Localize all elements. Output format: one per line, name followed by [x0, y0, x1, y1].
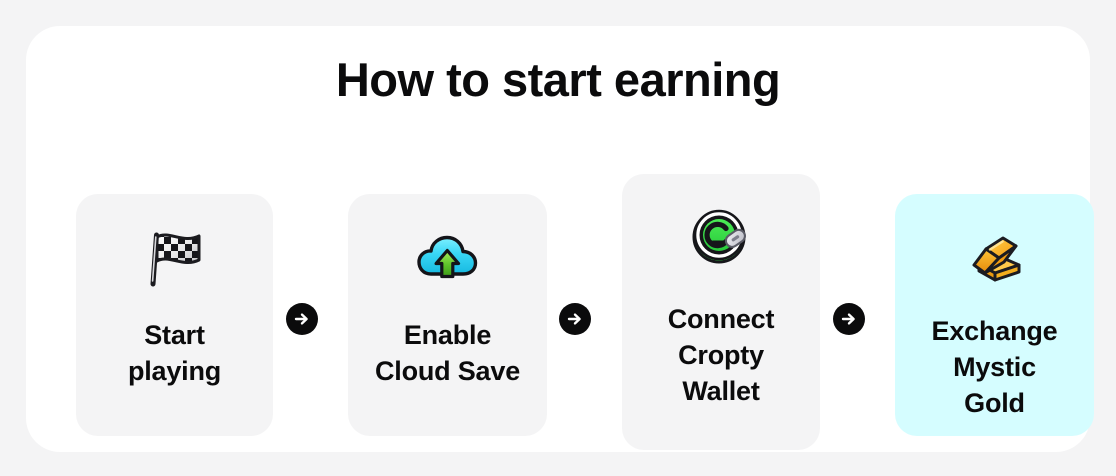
cropty-wallet-icon [622, 202, 820, 274]
step-card-enable-cloud-save[interactable]: EnableCloud Save [348, 194, 547, 436]
step-card-label: ExchangeMysticGold [895, 314, 1094, 422]
step-label-line: Enable [404, 320, 491, 350]
page-title: How to start earning [26, 52, 1090, 107]
step-label-line: Cropty [678, 340, 764, 370]
arrow-right-icon [559, 303, 591, 335]
step-card-exchange-mystic-gold[interactable]: ExchangeMysticGold [895, 194, 1094, 436]
gold-bars-icon [895, 224, 1094, 296]
arrow-right-icon [833, 303, 865, 335]
step-card-connect-cropty-wallet[interactable]: ConnectCroptyWallet [622, 174, 820, 450]
step-card-label: EnableCloud Save [348, 318, 547, 390]
step-label-line: Mystic [953, 352, 1036, 382]
checkered-flag-icon [76, 224, 273, 296]
step-label-line: Cloud Save [375, 356, 520, 386]
step-card-label: ConnectCroptyWallet [622, 302, 820, 410]
step-card-label: Startplaying [76, 318, 273, 390]
cloud-upload-icon [348, 224, 547, 296]
step-label-line: Wallet [682, 376, 759, 406]
step-label-line: Gold [964, 388, 1025, 418]
step-label-line: Start [144, 320, 205, 350]
step-card-start-playing[interactable]: Startplaying [76, 194, 273, 436]
step-label-line: playing [128, 356, 221, 386]
step-label-line: Exchange [932, 316, 1058, 346]
step-label-line: Connect [668, 304, 775, 334]
arrow-right-icon [286, 303, 318, 335]
how-to-start-earning-panel: How to start earning [26, 26, 1090, 452]
steps-flow: Startplaying [50, 148, 1092, 428]
